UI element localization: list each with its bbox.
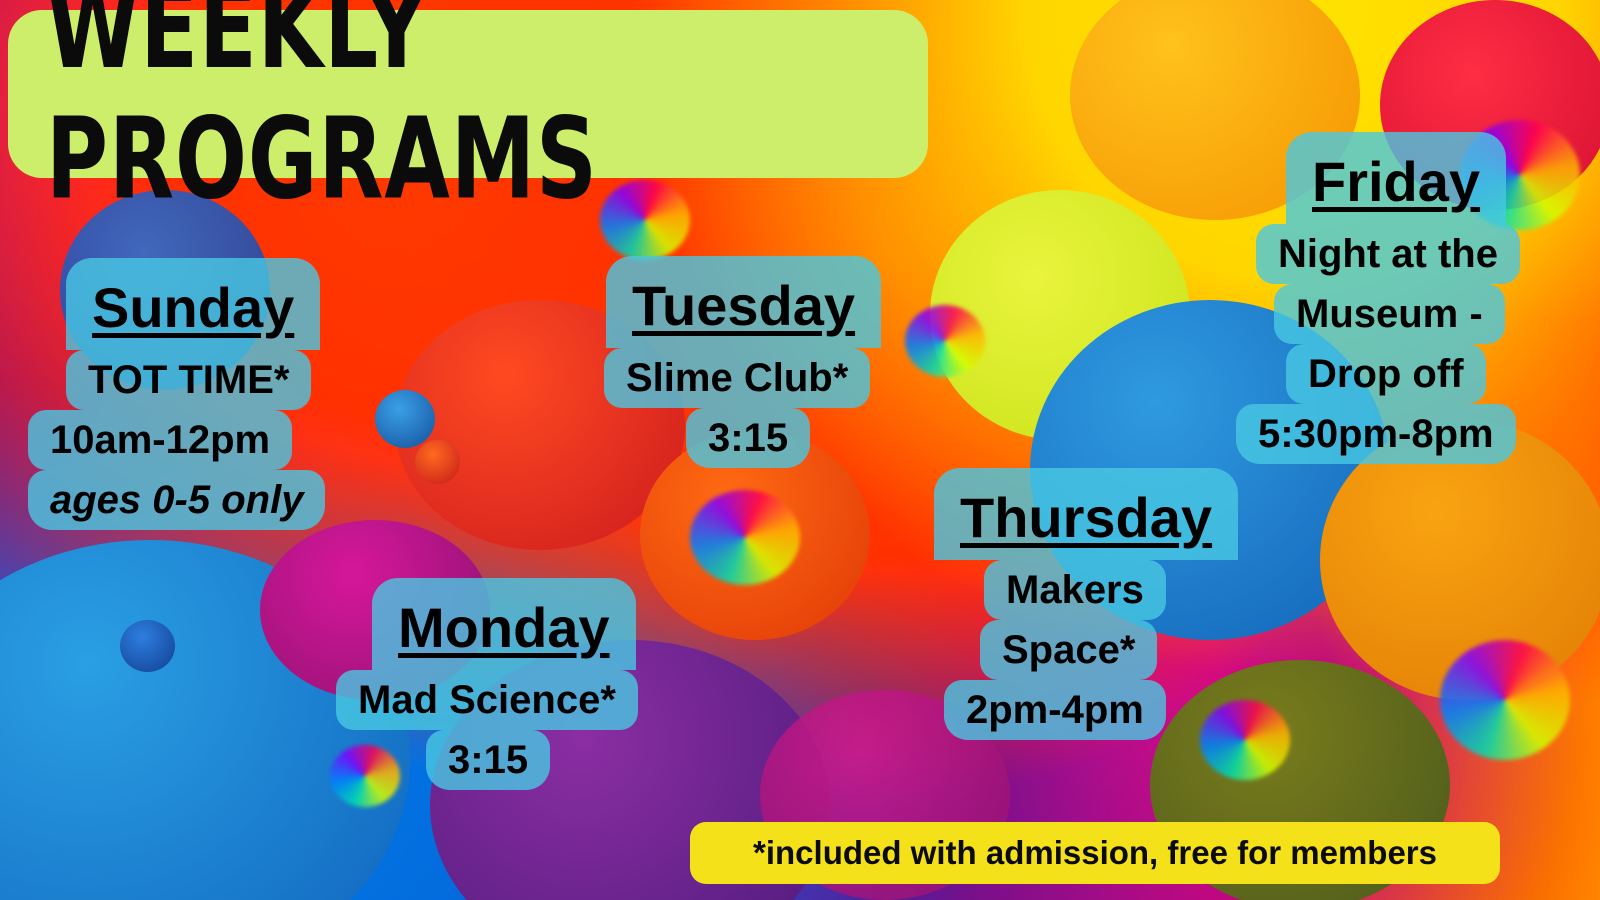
day-line: Slime Club*: [604, 348, 870, 408]
day-line: 3:15: [426, 730, 550, 790]
day-line: ages 0-5 only: [28, 470, 325, 530]
day-line: Night at the: [1256, 224, 1520, 284]
day-line: Drop off: [1286, 344, 1486, 404]
title-banner: WEEKLY PROGRAMS: [8, 10, 928, 178]
day-card-friday[interactable]: Friday Night at the Museum - Drop off 5:…: [1228, 132, 1520, 464]
day-label-sunday: Sunday: [66, 258, 320, 350]
day-card-thursday[interactable]: Thursday Makers Space* 2pm-4pm: [922, 468, 1238, 740]
day-line: Mad Science*: [336, 670, 638, 730]
day-label-monday: Monday: [372, 578, 636, 670]
day-label-tuesday: Tuesday: [606, 256, 881, 348]
day-line: 3:15: [686, 408, 810, 468]
rainbow-droplet: [1440, 640, 1570, 760]
admission-note-text: *included with admission, free for membe…: [753, 834, 1437, 872]
day-line: 2pm-4pm: [944, 680, 1166, 740]
bubble: [120, 620, 175, 672]
poster: WEEKLY PROGRAMS Sunday TOT TIME* 10am-12…: [0, 0, 1600, 900]
day-line: TOT TIME*: [66, 350, 311, 410]
page-title: WEEKLY PROGRAMS: [46, 0, 857, 225]
admission-note-banner: *included with admission, free for membe…: [690, 822, 1500, 884]
day-line: Museum -: [1274, 284, 1505, 344]
rainbow-droplet: [905, 305, 985, 377]
day-line: Makers: [984, 560, 1166, 620]
day-line: 10am-12pm: [28, 410, 292, 470]
bubble: [375, 390, 435, 448]
day-line: 5:30pm-8pm: [1236, 404, 1516, 464]
day-label-friday: Friday: [1286, 132, 1506, 224]
rainbow-droplet: [690, 490, 800, 585]
day-card-monday[interactable]: Monday Mad Science* 3:15: [336, 578, 638, 790]
day-card-sunday[interactable]: Sunday TOT TIME* 10am-12pm ages 0-5 only: [28, 258, 325, 530]
day-card-tuesday[interactable]: Tuesday Slime Club* 3:15: [596, 256, 881, 468]
day-label-thursday: Thursday: [934, 468, 1238, 560]
bubble: [415, 440, 460, 484]
day-line: Space*: [980, 620, 1157, 680]
